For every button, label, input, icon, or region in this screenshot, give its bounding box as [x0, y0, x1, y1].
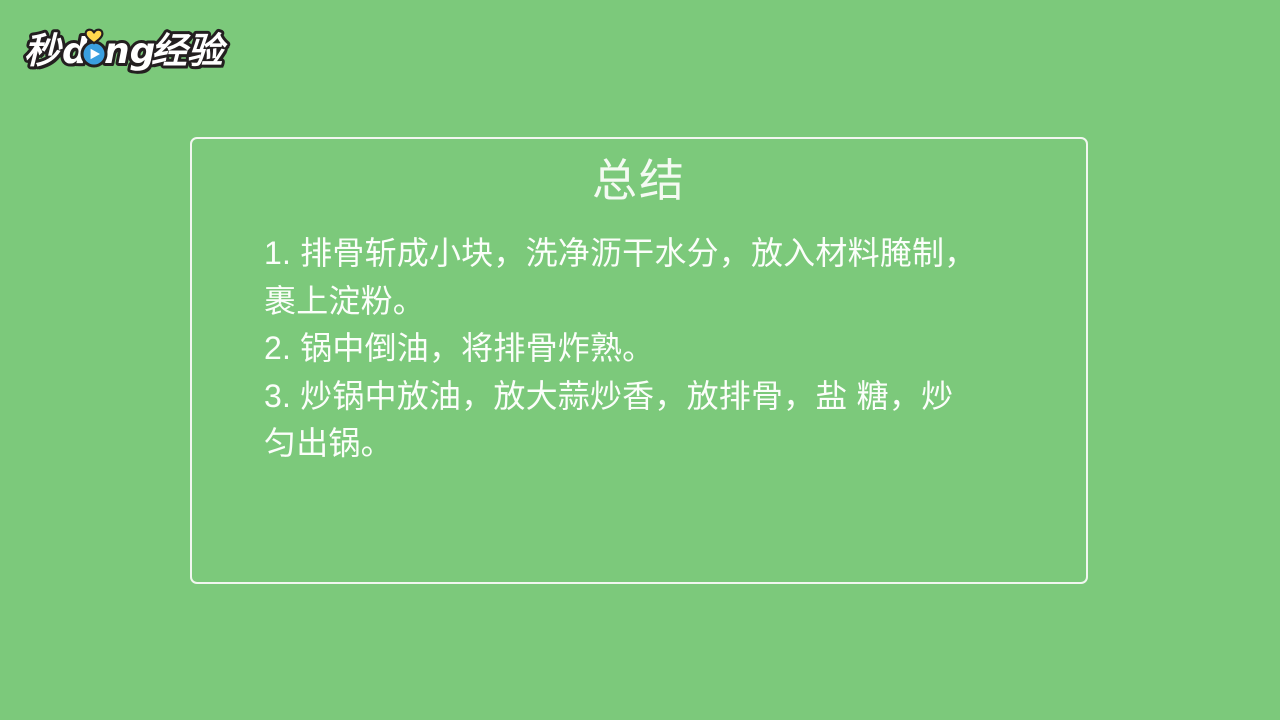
list-item: 2. 锅中倒油，将排骨炸熟。 — [264, 325, 1052, 373]
logo-char-miao: 秒 — [24, 31, 63, 72]
brand-logo: .lg-txt{ font-family:"DejaVu Sans","Libe… — [24, 25, 229, 77]
steps-list: 1. 排骨斩成小块，洗净沥干水分，放入材料腌制， 裹上淀粉。 2. 锅中倒油，将… — [264, 230, 1052, 468]
list-item-continuation: 匀出锅。 — [264, 420, 1052, 468]
list-item: 3. 炒锅中放油，放大蒜炒香，放排骨，盐 糖，炒 — [264, 373, 1052, 421]
logo-char-ng: ng — [104, 31, 155, 72]
page-title: 总结 — [192, 152, 1086, 210]
list-item-continuation: 裹上淀粉。 — [264, 278, 1052, 326]
slide-root: .lg-txt{ font-family:"DejaVu Sans","Libe… — [0, 0, 1280, 720]
logo-chars-jingyan: 经验 — [151, 31, 228, 72]
list-item: 1. 排骨斩成小块，洗净沥干水分，放入材料腌制， — [264, 230, 1052, 278]
summary-card: 总结 1. 排骨斩成小块，洗净沥干水分，放入材料腌制， 裹上淀粉。 2. 锅中倒… — [190, 137, 1088, 584]
logo-fill: 秒 d ng 经验 — [24, 31, 228, 72]
play-circle-icon — [81, 41, 108, 68]
